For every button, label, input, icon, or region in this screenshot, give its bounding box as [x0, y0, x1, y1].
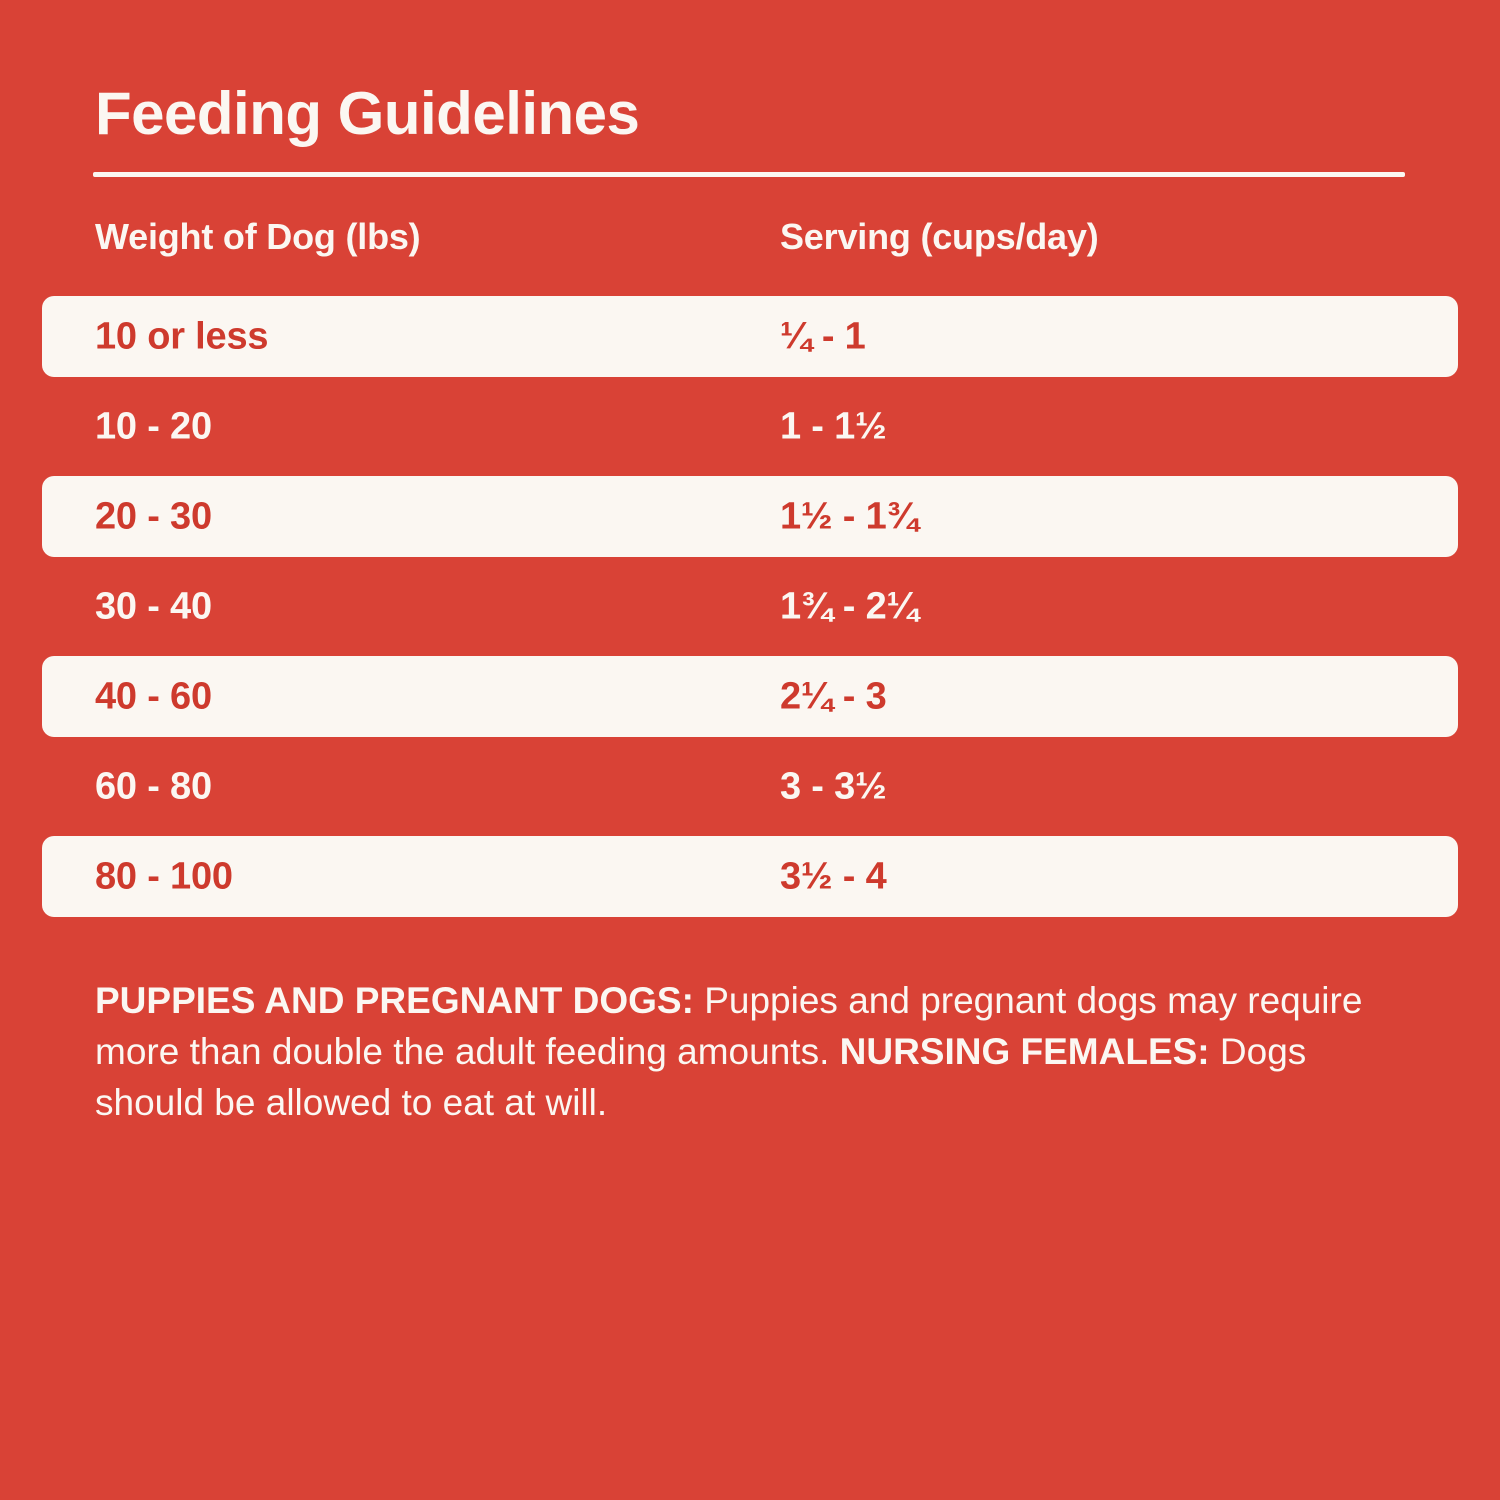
note-nursing-label: NURSING FEMALES:: [840, 1031, 1210, 1072]
cell-serving: 3 - 3½: [780, 765, 887, 808]
table-row: 60 - 803 - 3½: [0, 746, 1500, 827]
column-header-weight: Weight of Dog (lbs): [95, 216, 420, 258]
cell-serving: 1¾ - 2¼: [780, 585, 918, 628]
column-header-serving: Serving (cups/day): [780, 216, 1098, 258]
cell-weight: 10 - 20: [95, 405, 212, 448]
cell-weight: 80 - 100: [95, 855, 233, 898]
feeding-guidelines-panel: Feeding Guidelines Weight of Dog (lbs) S…: [0, 0, 1500, 1500]
cell-weight: 10 or less: [95, 315, 268, 358]
title-divider: [93, 172, 1405, 177]
table-body: 10 or less¼ - 110 - 201 - 1½20 - 301½ - …: [0, 296, 1500, 917]
cell-weight: 40 - 60: [95, 675, 212, 718]
table-header-row: Weight of Dog (lbs) Serving (cups/day): [0, 216, 1500, 296]
feeding-note: PUPPIES AND PREGNANT DOGS: Puppies and p…: [95, 975, 1425, 1128]
table-row: 80 - 1003½ - 4: [42, 836, 1458, 917]
cell-serving: 1 - 1½: [780, 405, 887, 448]
note-puppies-label: PUPPIES AND PREGNANT DOGS:: [95, 980, 694, 1021]
cell-serving: 3½ - 4: [780, 855, 887, 898]
table-row: 40 - 602¼ - 3: [42, 656, 1458, 737]
table-row: 30 - 401¾ - 2¼: [0, 566, 1500, 647]
cell-weight: 20 - 30: [95, 495, 212, 538]
table-row: 10 or less¼ - 1: [42, 296, 1458, 377]
cell-serving: 2¼ - 3: [780, 675, 887, 718]
cell-serving: ¼ - 1: [780, 315, 866, 358]
table-row: 10 - 201 - 1½: [0, 386, 1500, 467]
table-row: 20 - 301½ - 1¾: [42, 476, 1458, 557]
page-title: Feeding Guidelines: [95, 82, 639, 145]
cell-weight: 30 - 40: [95, 585, 212, 628]
cell-weight: 60 - 80: [95, 765, 212, 808]
feeding-table: Weight of Dog (lbs) Serving (cups/day) 1…: [0, 216, 1500, 926]
cell-serving: 1½ - 1¾: [780, 495, 918, 538]
